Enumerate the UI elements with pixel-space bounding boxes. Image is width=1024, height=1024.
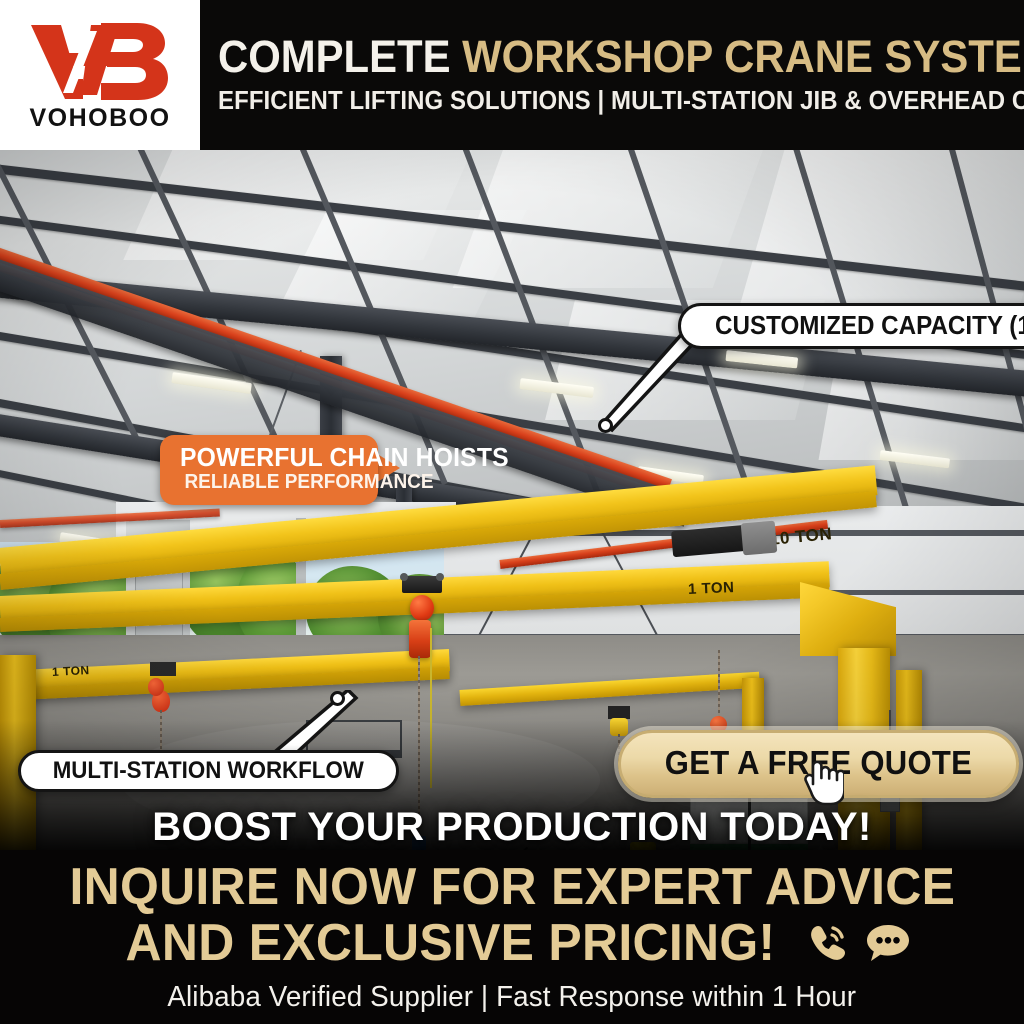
footer-cta-band: INQUIRE NOW FOR EXPERT ADVICE AND EXCLUS… — [0, 850, 1024, 1024]
boost-tagline: BOOST YOUR PRODUCTION TODAY! — [0, 805, 1024, 850]
callout-capacity-label: CUSTOMIZED CAPACITY (1-10T) — [715, 310, 1024, 341]
header-title-gold: WORKSHOP CRANE SYSTEMS — [462, 31, 1024, 82]
capacity-leader-dot — [598, 418, 613, 433]
phone-call-icon[interactable] — [805, 920, 851, 966]
chat-bubble-icon[interactable] — [864, 920, 912, 966]
brand-name: VOHOBOO — [29, 106, 170, 131]
callout-hoists-line2: RELIABLE PERFORMANCE — [184, 471, 353, 494]
beam-label-left: 1 TON — [52, 663, 90, 679]
footer-headline-row2: AND EXCLUSIVE PRICING! — [112, 916, 912, 970]
brand-logo: VOHOBOO — [0, 0, 200, 150]
beam-label-1ton: 1 TON — [688, 579, 735, 598]
header-title: COMPLETE WORKSHOP CRANE SYSTEMS — [218, 34, 1024, 80]
callout-multi-station-workflow: MULTI-STATION WORKFLOW — [18, 750, 399, 792]
callout-customized-capacity: CUSTOMIZED CAPACITY (1-10T) — [678, 303, 1024, 349]
header-title-white: COMPLETE — [218, 31, 451, 82]
hook-chain-right — [718, 650, 720, 720]
hoist-gearbox — [741, 521, 778, 556]
promotional-poster: 10 TON 1 TON 1 TON — [0, 0, 1024, 1024]
chain-hoist-top-hook — [410, 595, 434, 621]
footer-headline-line2: AND EXCLUSIVE PRICING! — [126, 916, 776, 970]
header-text-block: COMPLETE WORKSHOP CRANE SYSTEMS EFFICIEN… — [200, 0, 1024, 150]
vhb-logo-icon — [25, 21, 175, 103]
contact-icons — [805, 920, 912, 966]
hoist-trolley-left — [150, 662, 176, 676]
callout-workflow-label: MULTI-STATION WORKFLOW — [53, 757, 364, 785]
callout-hoists-line1: POWERFUL CHAIN HOISTS — [180, 444, 349, 471]
roof-panel — [736, 150, 1024, 320]
chain-hoist-body — [409, 620, 431, 658]
chain-hoist-small — [148, 678, 164, 696]
footer-headline-line1: INQUIRE NOW FOR EXPERT ADVICE — [69, 860, 955, 914]
hand-pointer-icon — [800, 754, 844, 806]
hoist-trolley-wheel — [400, 573, 408, 581]
footer-subline: Alibaba Verified Supplier | Fast Respons… — [168, 981, 857, 1014]
header-subtitle: EFFICIENT LIFTING SOLUTIONS | MULTI-STAT… — [218, 87, 1024, 116]
hoist-trolley-wheel — [436, 573, 444, 581]
hoist-pendant-cable — [430, 628, 432, 788]
workflow-leader-dot — [330, 691, 345, 706]
header-banner: VOHOBOO COMPLETE WORKSHOP CRANE SYSTEMS … — [0, 0, 1024, 150]
callout-powerful-chain-hoists: POWERFUL CHAIN HOISTS RELIABLE PERFORMAN… — [160, 435, 378, 505]
